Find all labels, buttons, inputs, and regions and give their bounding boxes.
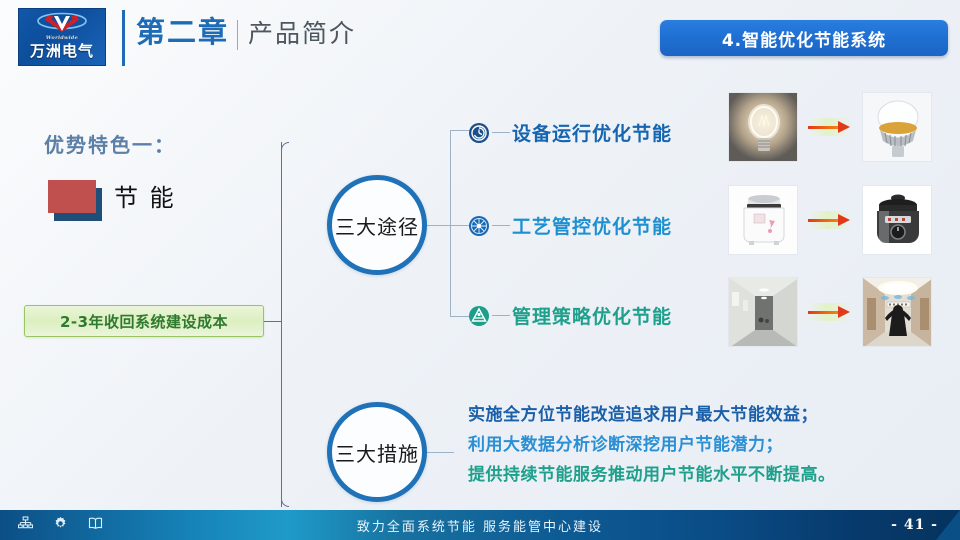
left-bracket-top-corner [281, 142, 289, 150]
logo-subtext: Worldwide [46, 35, 78, 41]
logo-emblem-icon [35, 12, 89, 36]
footer-corner-accent [936, 510, 960, 540]
process-network-icon [468, 215, 490, 237]
clock-gauge-icon [468, 122, 490, 144]
incandescent-bulb-photo [728, 92, 798, 162]
bright-corridor-photo [862, 277, 932, 347]
hub-three-measures-label: 三大措施 [335, 438, 419, 467]
cost-box-connector [264, 321, 282, 322]
left-bracket-bottom-corner [281, 499, 289, 507]
hub-three-ways-label: 三大途径 [335, 211, 419, 240]
red-arrow-icon [808, 118, 852, 136]
company-logo: Worldwide 万洲电气 [18, 8, 106, 66]
image-pair-corridor [728, 277, 932, 347]
red-arrow-icon [808, 303, 852, 321]
chapter-title: 第二章 [136, 18, 229, 47]
logo-company-name: 万洲电气 [30, 44, 94, 59]
cost-callout-box: 2-3年收回系统建设成本 [24, 305, 264, 337]
measure-line-2: 利用大数据分析诊断深挖用户节能潜力； [468, 430, 938, 460]
footer-bar: 致力全面系统节能 服务能管中心建设 - 41 - [0, 510, 960, 540]
ways-branch-stem [426, 225, 450, 226]
footer-slogan: 致力全面系统节能 服务能管中心建设 [0, 516, 960, 535]
dim-corridor-photo [728, 277, 798, 347]
path-item-equipment-label: 设备运行优化节能 [512, 119, 672, 146]
color-swatch [48, 180, 96, 213]
path-connector-3 [492, 315, 510, 316]
feature-heading: 优势特色一： [44, 129, 176, 158]
measures-text-block: 实施全方位节能改造追求用户最大节能效益； 利用大数据分析诊断深挖用户节能潜力； … [468, 400, 938, 490]
hub-three-measures[interactable]: 三大措施 [327, 402, 427, 502]
red-arrow-icon [808, 211, 852, 229]
path-connector-1 [492, 132, 510, 133]
feature-value-label: 节 能 [114, 180, 176, 216]
path-item-process-label: 工艺管控优化节能 [512, 212, 672, 239]
ways-branch-spine [450, 130, 451, 316]
left-bracket-vertical [281, 142, 282, 507]
title-accent-bar [122, 10, 125, 66]
path-item-management[interactable]: 管理策略优化节能 [468, 302, 672, 329]
hub-three-ways[interactable]: 三大途径 [327, 175, 427, 275]
page-number: - 41 - [891, 517, 938, 533]
section-badge: 4.智能优化节能系统 [660, 20, 948, 56]
path-connector-2 [492, 225, 510, 226]
led-bulb-photo [862, 92, 932, 162]
section-badge-label: 4.智能优化节能系统 [722, 26, 886, 51]
modern-pressure-cooker-photo [862, 185, 932, 255]
page-subtitle: 产品简介 [248, 21, 356, 46]
measure-line-1: 实施全方位节能改造追求用户最大节能效益； [468, 400, 938, 430]
triangle-strategy-icon [468, 305, 490, 327]
path-item-equipment[interactable]: 设备运行优化节能 [468, 119, 672, 146]
path-item-process[interactable]: 工艺管控优化节能 [468, 212, 672, 239]
slide-canvas: Worldwide 万洲电气 第二章 产品简介 4.智能优化节能系统 优势特色一… [0, 0, 960, 540]
feature-value-group: 节 能 [48, 180, 218, 224]
measure-line-3: 提供持续节能服务推动用户节能水平不断提高。 [468, 460, 938, 490]
title-separator [237, 20, 238, 50]
image-pair-lighting [728, 92, 932, 162]
old-rice-cooker-photo [728, 185, 798, 255]
image-pair-cooker [728, 185, 932, 255]
measures-branch-stem [426, 452, 454, 453]
cost-callout-label: 2-3年收回系统建设成本 [60, 311, 228, 332]
path-item-management-label: 管理策略优化节能 [512, 302, 672, 329]
